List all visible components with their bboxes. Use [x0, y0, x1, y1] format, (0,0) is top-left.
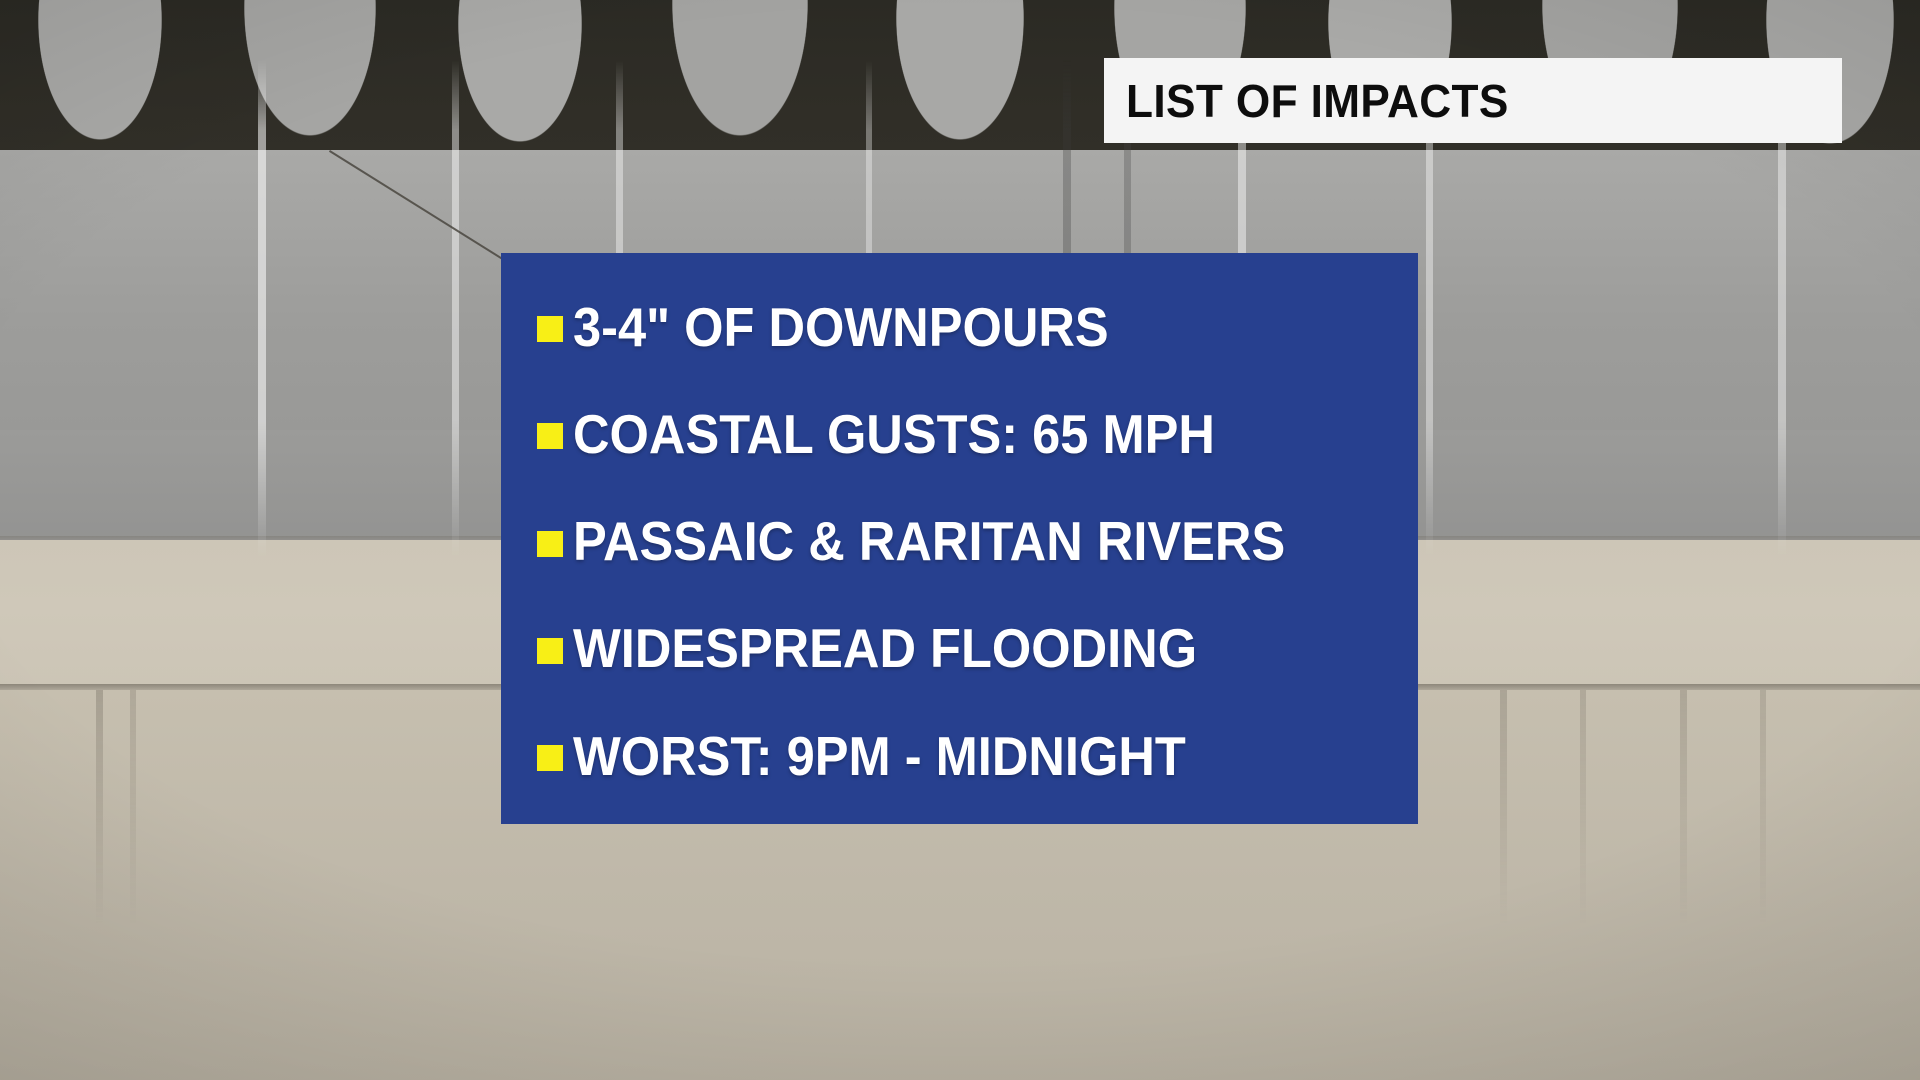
page-title: LIST OF IMPACTS [1126, 78, 1509, 124]
list-item: 3-4" OF DOWNPOURS [537, 293, 1418, 361]
impact-label: PASSAIC & RARITAN RIVERS [573, 514, 1285, 569]
impact-label: WIDESPREAD FLOODING [573, 621, 1197, 676]
square-bullet-icon [537, 531, 563, 557]
impacts-panel: 3-4" OF DOWNPOURS COASTAL GUSTS: 65 MPH … [501, 253, 1418, 824]
square-bullet-icon [537, 638, 563, 664]
impact-label: 3-4" OF DOWNPOURS [573, 300, 1109, 355]
header-banner: LIST OF IMPACTS [1104, 58, 1842, 143]
broadcast-weather-graphic: LIST OF IMPACTS 3-4" OF DOWNPOURS COASTA… [0, 0, 1920, 1080]
list-item: WORST: 9PM - MIDNIGHT [537, 722, 1418, 790]
list-item: COASTAL GUSTS: 65 MPH [537, 400, 1418, 468]
square-bullet-icon [537, 745, 563, 771]
impact-label: WORST: 9PM - MIDNIGHT [573, 729, 1186, 784]
square-bullet-icon [537, 423, 563, 449]
impact-label: COASTAL GUSTS: 65 MPH [573, 407, 1215, 462]
list-item: PASSAIC & RARITAN RIVERS [537, 508, 1418, 576]
list-item: WIDESPREAD FLOODING [537, 615, 1418, 683]
square-bullet-icon [537, 316, 563, 342]
